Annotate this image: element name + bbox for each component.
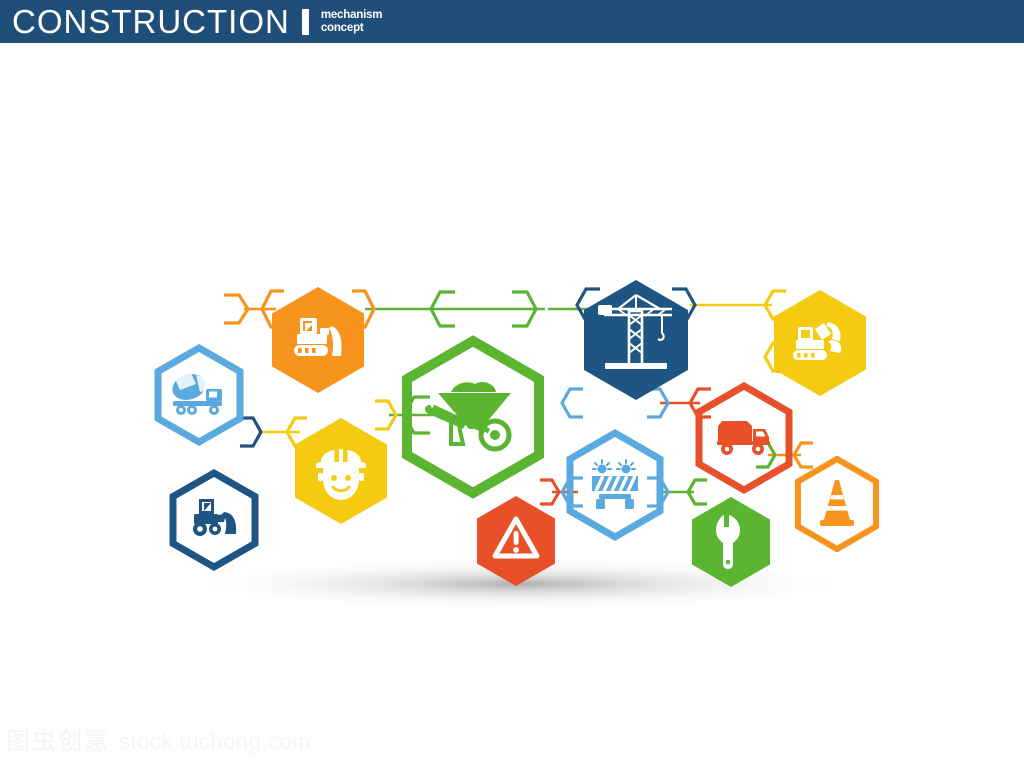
- cement-mixer-icon: [169, 370, 222, 415]
- traffic-cone-icon: [820, 480, 854, 526]
- node-road-barrier[interactable]: [570, 433, 660, 537]
- node-dump-truck[interactable]: [699, 386, 789, 490]
- subtitle-line-2: concept: [321, 22, 382, 34]
- node-worker-helmet[interactable]: [295, 418, 387, 524]
- infographic-stage: [0, 43, 1024, 768]
- node-cement-mixer[interactable]: [158, 348, 240, 442]
- road-barrier-icon: [592, 460, 638, 509]
- dump-truck-icon: [717, 421, 770, 455]
- node-excavator[interactable]: [774, 290, 866, 396]
- header-band: CONSTRUCTION mechanism concept: [0, 0, 1024, 43]
- node-front-loader[interactable]: [173, 473, 255, 567]
- node-tower-crane[interactable]: [584, 280, 688, 400]
- header-divider-bar: [302, 9, 309, 35]
- node-traffic-cone[interactable]: [798, 459, 876, 549]
- page-title: CONSTRUCTION: [12, 5, 290, 38]
- bracket-front-loader-right: [240, 418, 261, 446]
- hexagon-network-diagram: [0, 43, 1024, 768]
- front-loader-icon: [193, 499, 236, 536]
- bracket-barrier-left: [562, 389, 583, 417]
- header-subtitle: mechanism concept: [321, 9, 382, 33]
- subtitle-line-1: mechanism: [321, 9, 382, 21]
- node-wheelbarrow[interactable]: [407, 341, 539, 493]
- node-bulldozer[interactable]: [272, 287, 364, 393]
- wheelbarrow-icon: [425, 382, 511, 449]
